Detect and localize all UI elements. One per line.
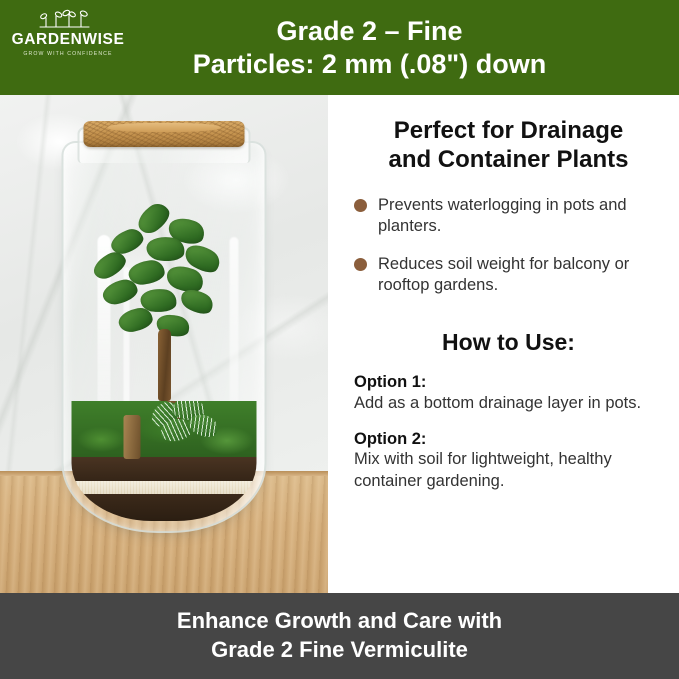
- usage-option: Option 2: Mix with soil for lightweight,…: [354, 429, 663, 492]
- footer-text-line1: Enhance Growth and Care with: [177, 608, 502, 633]
- brand-name: GARDENWISE: [12, 32, 125, 48]
- panel-heading-line2: and Container Plants: [354, 146, 663, 175]
- header-title-line2: Particles: 2 mm (.08") down: [193, 48, 546, 81]
- fittonia-plant: [149, 401, 223, 449]
- bullet-dot-icon: [354, 258, 367, 271]
- header-banner: GARDENWISE GROW WITH CONFIDENCE Grade 2 …: [0, 0, 679, 95]
- leaf: [100, 277, 140, 308]
- list-item: Prevents waterlogging in pots and plante…: [354, 195, 663, 237]
- option-text: Add as a bottom drainage layer in pots.: [354, 393, 663, 414]
- header-title-line1: Grade 2 – Fine: [276, 16, 462, 46]
- benefit-text: Reduces soil weight for balcony or rooft…: [378, 254, 663, 296]
- wood-stump-decor: [124, 415, 141, 459]
- footer-text: Enhance Growth and Care with Grade 2 Fin…: [177, 607, 502, 664]
- usage-option: Option 1: Add as a bottom drainage layer…: [354, 372, 663, 414]
- brand-logo: GARDENWISE GROW WITH CONFIDENCE: [14, 8, 122, 57]
- bullet-dot-icon: [354, 199, 367, 212]
- terrarium-substrate: [72, 401, 257, 521]
- content-area: Perfect for Drainage and Container Plant…: [0, 95, 679, 593]
- panel-heading: Perfect for Drainage and Container Plant…: [354, 117, 663, 175]
- option-text: Mix with soil for lightweight, healthy c…: [354, 449, 663, 491]
- header-title: Grade 2 – Fine Particles: 2 mm (.08") do…: [193, 15, 556, 81]
- list-item: Reduces soil weight for balcony or rooft…: [354, 254, 663, 296]
- panel-heading-line1: Perfect for Drainage: [394, 117, 623, 144]
- footer-banner: Enhance Growth and Care with Grade 2 Fin…: [0, 593, 679, 679]
- cork-lid: [84, 121, 245, 147]
- product-infographic: GARDENWISE GROW WITH CONFIDENCE Grade 2 …: [0, 0, 679, 679]
- plant-trunk: [158, 329, 171, 401]
- howto-heading: How to Use:: [354, 329, 663, 356]
- terrarium-photo: [0, 95, 328, 593]
- option-label: Option 1:: [354, 372, 663, 393]
- cork-lid-top: [108, 123, 221, 132]
- sprout-leaves-icon: [39, 8, 97, 30]
- footer-text-line2: Grade 2 Fine Vermiculite: [177, 636, 502, 665]
- glass-jar: [62, 117, 267, 537]
- option-label: Option 2:: [354, 429, 663, 450]
- benefit-list: Prevents waterlogging in pots and plante…: [354, 195, 663, 313]
- soil-layer-bottom: [72, 494, 257, 521]
- soil-layer-top: [72, 457, 257, 483]
- leaf: [116, 306, 154, 335]
- brand-tagline: GROW WITH CONFIDENCE: [23, 52, 112, 57]
- benefits-panel: Perfect for Drainage and Container Plant…: [328, 95, 679, 593]
- benefit-text: Prevents waterlogging in pots and plante…: [378, 195, 663, 237]
